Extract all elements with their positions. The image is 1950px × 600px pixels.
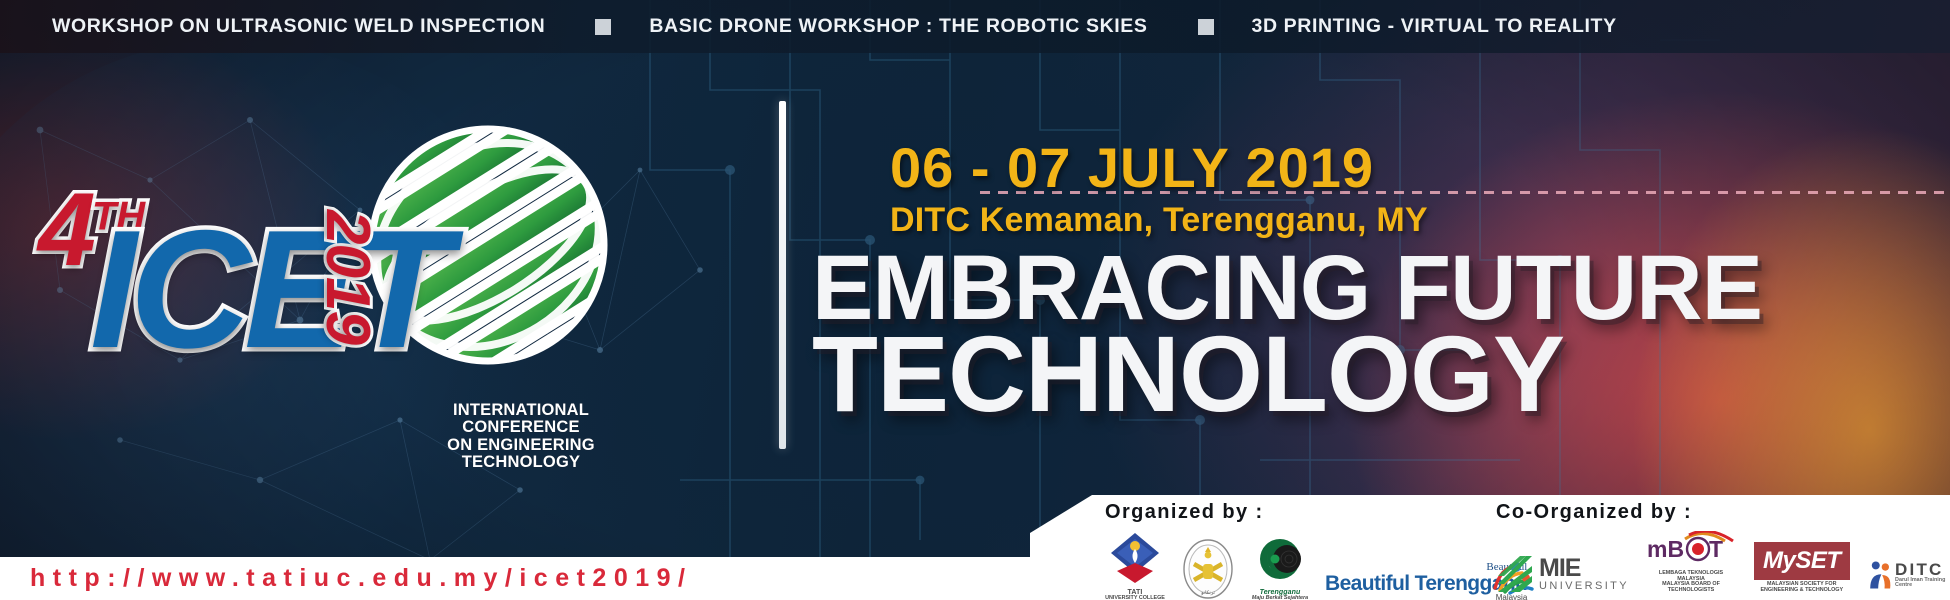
ditc-people-icon: [1867, 556, 1893, 594]
ditc-caption: Darul Iman Training Centre: [1895, 578, 1950, 589]
terengganu-caption: Terengganu Maju Berkat Sejahtera: [1252, 589, 1308, 600]
svg-text:mB: mB: [1647, 536, 1684, 562]
tati-university-college-logo[interactable]: TATI UNIVERSITY COLLEGE: [1105, 531, 1165, 600]
event-venue: DITC Kemaman, Terengganu, MY: [890, 203, 1428, 237]
state-crest-icon: ترنكانو: [1181, 538, 1235, 600]
mie-university-logo[interactable]: MIE UNIVERSITY: [1496, 554, 1629, 594]
co-organized-by-logos: MIE UNIVERSITY mB T LEMBAGA TEKNOLOGIS M…: [1496, 531, 1950, 594]
vertical-divider: [779, 101, 786, 449]
subtitle-line-1: INTERNATIONAL CONFERENCE: [406, 402, 636, 437]
co-organized-by-section: Co-Organized by : MIE UNIVERSITY: [1496, 501, 1950, 594]
website-url[interactable]: http://www.tatiuc.edu.my/icet2019/: [30, 562, 693, 595]
terengganu-state-crest-logo[interactable]: ترنكانو: [1181, 538, 1235, 600]
mie-mark-icon: [1496, 554, 1534, 594]
ditc-logo[interactable]: DITC Darul Iman Training Centre: [1867, 556, 1950, 594]
mbot-logo[interactable]: mB T LEMBAGA TEKNOLOGIS MALAYSIA MALAYSI…: [1645, 531, 1737, 594]
myset-logo[interactable]: MySET MALAYSIAN SOCIETY FOR ENGINEERING …: [1753, 542, 1851, 593]
myset-caption: MALAYSIAN SOCIETY FOR ENGINEERING & TECH…: [1753, 582, 1851, 593]
tati-crest-icon: [1105, 531, 1165, 587]
mbot-mark-icon: mB T: [1645, 531, 1737, 569]
icet-logo-lockup: 4TH ICET 2019 INTERNATIONAL CONFERENCE O…: [28, 150, 748, 470]
university-label: UNIVERSITY: [1539, 581, 1629, 592]
ditc-wordmark: DITC: [1895, 561, 1950, 578]
tati-caption: TATI UNIVERSITY COLLEGE: [1105, 589, 1165, 600]
myset-wordmark: MySET: [1763, 547, 1841, 574]
terengganu-emblem-icon: [1251, 537, 1309, 587]
bullet-square-icon: [1198, 19, 1214, 35]
subtitle-line-2: ON ENGINEERING TECHNOLOGY: [406, 437, 636, 472]
bullet-square-icon: [595, 19, 611, 35]
event-date: 06 - 07 JULY 2019: [890, 140, 1374, 196]
co-organized-by-title: Co-Organized by :: [1496, 501, 1950, 524]
conference-subtitle: INTERNATIONAL CONFERENCE ON ENGINEERING …: [406, 402, 636, 471]
topbar-item-ultrasonic[interactable]: WORKSHOP ON ULTRASONIC WELD INSPECTION: [52, 15, 545, 38]
logo-year: 2019: [316, 210, 378, 344]
icet-acronym: ICET: [90, 205, 445, 373]
svg-text:ترنكانو: ترنكانو: [1200, 590, 1215, 596]
mbot-caption: LEMBAGA TEKNOLOGIS MALAYSIA MALAYSIA BOA…: [1645, 571, 1737, 594]
topbar-item-3dprinting[interactable]: 3D PRINTING - VIRTUAL TO REALITY: [1252, 15, 1617, 38]
conference-banner: WORKSHOP ON ULTRASONIC WELD INSPECTION B…: [0, 0, 1950, 600]
topbar-item-drone[interactable]: BASIC DRONE WORKSHOP : THE ROBOTIC SKIES: [649, 15, 1147, 38]
terengganu-tourism-logo[interactable]: Terengganu Maju Berkat Sejahtera: [1251, 537, 1309, 600]
mie-wordmark: MIE: [1539, 556, 1629, 581]
workshop-topbar: WORKSHOP ON ULTRASONIC WELD INSPECTION B…: [0, 0, 1950, 53]
edition-digit: 4: [38, 172, 92, 288]
theme-line-2: TECHNOLOGY: [812, 320, 1564, 428]
